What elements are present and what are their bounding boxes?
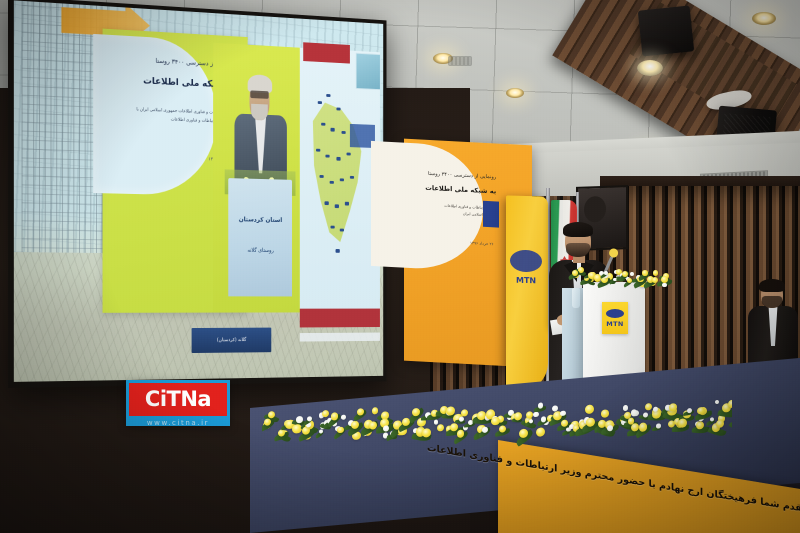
- white-flower: [662, 283, 667, 288]
- map-marker: [336, 157, 340, 160]
- yellow-flower: [331, 413, 338, 421]
- yellow-flower: [716, 420, 724, 429]
- attendee-beard: [762, 296, 782, 308]
- lower-third-text: گلانه (کردستان): [217, 337, 246, 343]
- iran-map-panel: [300, 47, 380, 312]
- remote-speaker-glasses: [250, 90, 269, 99]
- map-marker: [350, 176, 354, 179]
- mtn-oval-icon: [606, 309, 624, 318]
- podium-mtn-logo: MTN: [602, 302, 628, 334]
- yellow-flower: [622, 271, 628, 277]
- iran-map-shape: [310, 95, 364, 254]
- map-marker: [340, 228, 344, 231]
- map-marker: [319, 175, 323, 178]
- map-marker: [331, 226, 335, 229]
- map-marker: [324, 202, 328, 205]
- map-marker: [335, 249, 339, 252]
- yellow-flower: [322, 410, 329, 418]
- hvac-vent-ceiling: [448, 56, 472, 66]
- podium-flower-arrangement: [572, 264, 666, 296]
- map-marker: [316, 149, 320, 152]
- video-caption-province: استان کردستان: [213, 215, 307, 224]
- citna-logo-box: CiTNa: [129, 383, 227, 416]
- yellow-flower: [669, 403, 677, 411]
- white-flower: [533, 412, 538, 418]
- yellow-flower: [728, 399, 732, 407]
- remote-speaker-beard: [251, 104, 268, 121]
- irancell-flag-label: MTN: [516, 276, 536, 286]
- yellow-flower: [491, 416, 500, 425]
- lower-third-banner: گلانه (کردستان): [191, 327, 271, 353]
- spotlight-lamp: [637, 60, 663, 76]
- citna-brand-text: CiTNa: [145, 389, 211, 410]
- white-flower: [656, 424, 660, 429]
- map-top-red-bar: [303, 42, 350, 63]
- foliage-leaf: [728, 420, 732, 435]
- yellow-flower: [526, 411, 534, 419]
- irancell-flag: MTN: [506, 195, 548, 392]
- map-marker: [331, 128, 335, 131]
- map-marker: [327, 94, 331, 97]
- white-flower: [434, 419, 439, 424]
- white-flower: [630, 272, 634, 276]
- banner-ministry-logo: [483, 201, 498, 228]
- white-flower: [341, 415, 346, 420]
- video-caption-village: روستای گلانه: [213, 248, 307, 255]
- citna-watermark: CiTNa www.citna.ir: [126, 380, 230, 426]
- white-flower: [715, 399, 720, 404]
- yellow-flower: [536, 427, 545, 437]
- map-marker: [318, 101, 322, 104]
- white-flower: [631, 410, 637, 417]
- map-marker: [330, 181, 334, 184]
- yellow-flower: [264, 418, 271, 426]
- yellow-flower: [461, 409, 468, 417]
- white-flower: [307, 416, 312, 421]
- yellow-flower: [585, 404, 594, 413]
- map-marker: [347, 152, 351, 155]
- video-feed-window: استان کردستان روستای گلانه: [213, 42, 307, 312]
- map-marker: [345, 202, 349, 205]
- projection-surface: رونمایی از دسترسی ۳۴۰۰ روستا به شبکه ملی…: [14, 0, 383, 382]
- map-marker: [321, 122, 325, 125]
- attendee-hair: [759, 279, 785, 292]
- speaker-beard: [566, 243, 590, 257]
- downlight-2: [506, 88, 524, 98]
- slide-bottom-red-bar: [300, 309, 380, 327]
- screenshot-root: رونمایی از دسترسی ۳۴۰۰ روستا به شبکه ملی…: [0, 0, 800, 533]
- yellow-flower: [642, 270, 647, 275]
- map-marker: [335, 205, 339, 208]
- yellow-flower: [572, 270, 578, 276]
- yellow-flower: [412, 408, 420, 417]
- white-flower: [296, 416, 302, 423]
- slide-bottom-white-bar: [300, 333, 380, 341]
- yellow-flower: [372, 407, 379, 414]
- citna-url-text: www.citna.ir: [126, 419, 230, 427]
- map-marker: [336, 107, 340, 110]
- white-flower: [541, 416, 547, 422]
- yellow-flower: [601, 410, 608, 418]
- banner-date: ۲۶ خرداد ۱۳۹۶: [470, 240, 494, 246]
- downlight-4: [752, 12, 776, 25]
- mtn-logo-label: MTN: [606, 320, 624, 328]
- map-marker: [326, 154, 330, 157]
- map-thumbnail-image: [356, 53, 381, 90]
- yellow-flower: [437, 424, 444, 431]
- beam-mount-box: [638, 5, 695, 56]
- projection-screen: رونمایی از دسترسی ۳۴۰۰ روستا به شبکه ملی…: [8, 0, 387, 388]
- remote-podium: [229, 178, 293, 297]
- yellow-flower: [653, 270, 659, 276]
- white-flower: [623, 405, 628, 411]
- speaker-hair: [563, 222, 593, 237]
- yellow-flower: [645, 403, 652, 410]
